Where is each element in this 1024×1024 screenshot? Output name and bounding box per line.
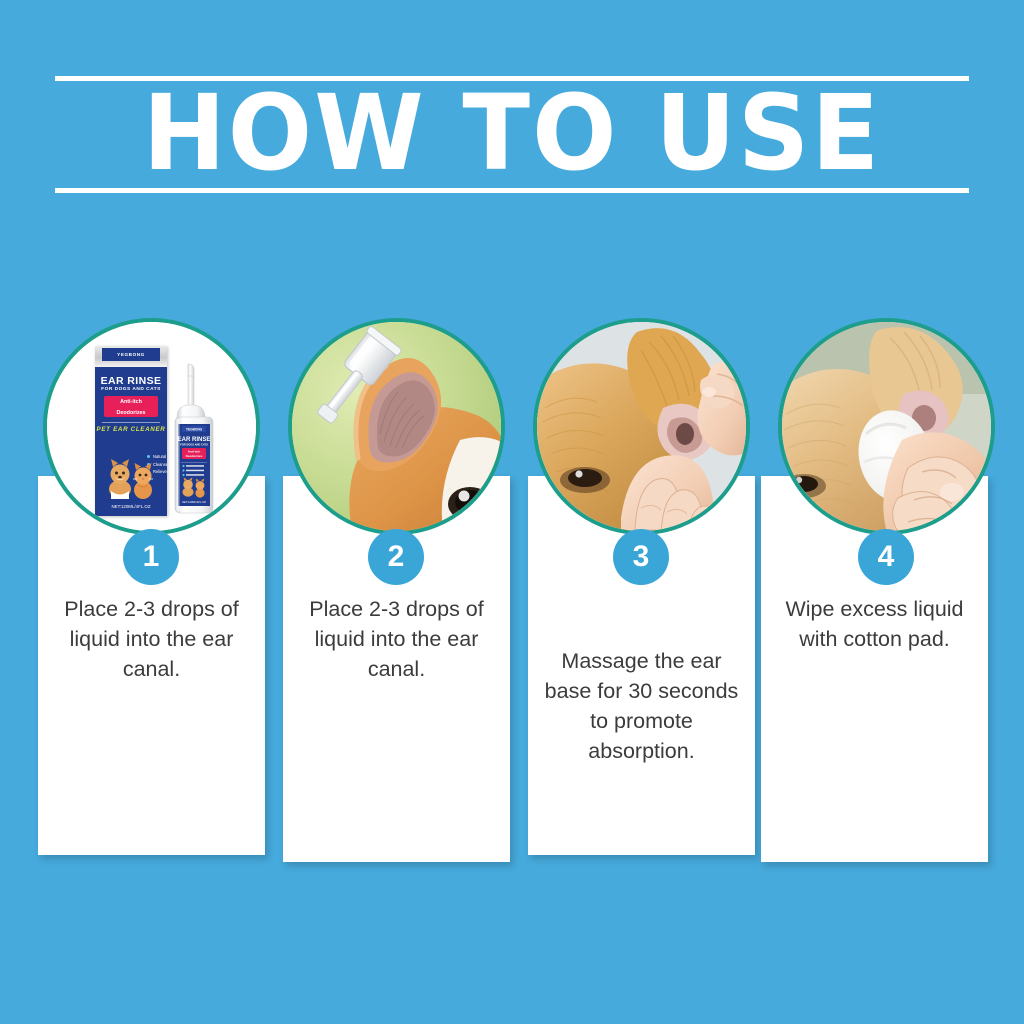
box-net-text: NET:120ML/4FL.OZ (95, 504, 167, 509)
corgi-with-dropper-illustration (292, 322, 505, 535)
dropper-applied-to-corgi-ear-photo (292, 322, 505, 535)
step-number-badge-2: 2 (368, 529, 424, 585)
product-bottle: YEGBONG EAR RINSE FOR DOGS AND CATS Anti… (163, 362, 225, 517)
step-caption-4: Wipe excess liquid with cotton pad. (775, 594, 974, 654)
infographic-root: HOW TO USE Place 2-3 drops of liquid int… (0, 0, 1024, 1024)
svg-text:EAR RINSE: EAR RINSE (178, 437, 211, 443)
box-claim-badge: Anti-itch Deodorizes (104, 396, 158, 417)
page-title: HOW TO USE (0, 79, 1024, 187)
step-image-3 (533, 318, 750, 535)
cotton-pad-wipe-illustration (782, 322, 995, 535)
step-number-badge-3: 3 (613, 529, 669, 585)
product-box-and-bottle-photo: YEGBONG EAR RINSE FOR DOGS AND CATS Anti… (47, 322, 260, 535)
step-caption-1: Place 2-3 drops of liquid into the ear c… (52, 594, 251, 684)
box-claim-line2: Deodorizes (104, 407, 158, 418)
step-number-badge-4: 4 (858, 529, 914, 585)
step-caption-3: Massage the ear base for 30 seconds to p… (542, 646, 741, 766)
box-brand-text: YEGBONG (102, 349, 160, 360)
box-category-text: PET EAR CLEANER (95, 426, 167, 433)
header: HOW TO USE (0, 0, 1024, 230)
product-box: YEGBONG EAR RINSE FOR DOGS AND CATS Anti… (95, 346, 167, 516)
box-title-text: EAR RINSE (95, 375, 167, 387)
step-caption-2: Place 2-3 drops of liquid into the ear c… (297, 594, 496, 684)
svg-text:Deodorizes: Deodorizes (186, 454, 203, 458)
svg-text:NET:120ML/4FL.OZ: NET:120ML/4FL.OZ (182, 500, 206, 504)
wiping-dog-ear-with-cotton-pad-photo (782, 322, 995, 535)
svg-text:YEGBONG: YEGBONG (186, 428, 203, 432)
step-number-badge-1: 1 (123, 529, 179, 585)
svg-text:FOR DOGS AND CATS: FOR DOGS AND CATS (180, 443, 208, 447)
step-image-4 (778, 318, 995, 535)
step-image-2 (288, 318, 505, 535)
box-divider (102, 422, 160, 423)
massaging-dog-ear-illustration (537, 322, 750, 535)
box-pet-illustration (104, 458, 158, 500)
box-subtitle-text: FOR DOGS AND CATS (95, 387, 167, 392)
title-rule-bottom (55, 188, 969, 193)
box-claim-line1: Anti-itch (104, 396, 158, 407)
dog-and-cat-icon (104, 458, 158, 500)
step-image-1: YEGBONG EAR RINSE FOR DOGS AND CATS Anti… (43, 318, 260, 535)
bottle-icon: YEGBONG EAR RINSE FOR DOGS AND CATS Anti… (163, 362, 225, 517)
hands-massaging-dog-ear-photo (537, 322, 750, 535)
svg-text:Anti-itch: Anti-itch (188, 450, 201, 454)
